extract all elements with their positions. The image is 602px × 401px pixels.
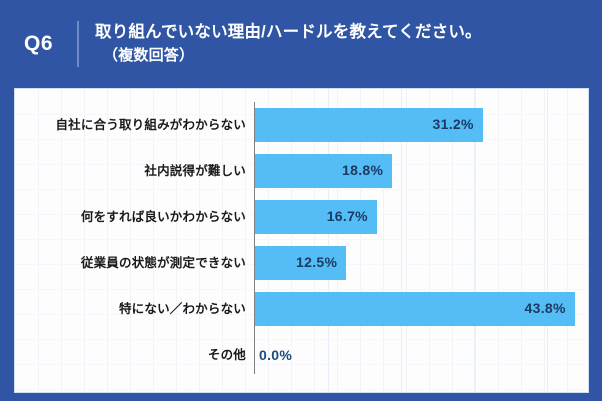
bar-chart: 自社に合う取り組みがわからない31.2%社内説得が難しい18.8%何をすれば良い…: [15, 89, 589, 393]
bar-container: 31.2%: [255, 108, 483, 142]
bar: 18.8%: [255, 154, 392, 188]
bar-container: 12.5%: [255, 246, 346, 280]
bar-row: 特にない／わからない43.8%: [15, 286, 589, 332]
bar-value-label: 16.7%: [327, 208, 368, 224]
bar-row: 従業員の状態が測定できない12.5%: [15, 240, 589, 286]
bar: 12.5%: [255, 246, 346, 280]
bar-category-label: 社内説得が難しい: [144, 165, 254, 178]
bar-row: 自社に合う取り組みがわからない31.2%: [15, 102, 589, 148]
question-number: Q6: [0, 32, 77, 56]
bar-category-label: 従業員の状態が測定できない: [81, 257, 254, 270]
bar-row: 社内説得が難しい18.8%: [15, 148, 589, 194]
question-title-line-2: （複数回答）: [95, 45, 482, 67]
bar-category-label: その他: [208, 349, 254, 362]
question-title-line-1: 取り組んでいない理由/ハードルを教えてください。: [95, 21, 482, 45]
bar-value-label: 0.0%: [259, 347, 292, 363]
header: Q6 取り組んでいない理由/ハードルを教えてください。 （複数回答）: [0, 0, 602, 88]
bar: 16.7%: [255, 200, 377, 234]
bar-value-label: 43.8%: [525, 300, 566, 316]
bar-value-label: 18.8%: [342, 162, 383, 178]
bar-container: 18.8%: [255, 154, 392, 188]
bar-category-label: 何をすれば良いかわからない: [81, 211, 254, 224]
bar-container: 16.7%: [255, 200, 377, 234]
bar-container: 0.0%: [255, 338, 292, 372]
bar: 31.2%: [255, 108, 483, 142]
bar-category-label: 特にない／わからない: [119, 303, 254, 316]
bar-row: 何をすれば良いかわからない16.7%: [15, 194, 589, 240]
bar-container: 43.8%: [255, 292, 575, 326]
bar-row: その他0.0%: [15, 332, 589, 378]
bar-value-label: 12.5%: [296, 254, 337, 270]
bar-value-label: 31.2%: [433, 116, 474, 132]
bar-category-label: 自社に合う取り組みがわからない: [55, 119, 254, 132]
bar: 43.8%: [255, 292, 575, 326]
chart-panel: 自社に合う取り組みがわからない31.2%社内説得が難しい18.8%何をすれば良い…: [14, 88, 589, 393]
question-title: 取り組んでいない理由/ハードルを教えてください。 （複数回答）: [79, 21, 482, 67]
